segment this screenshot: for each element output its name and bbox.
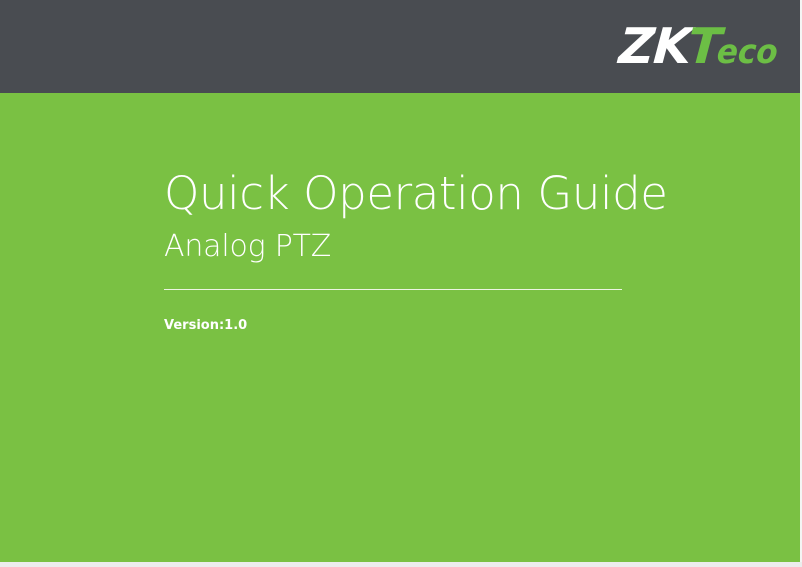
header-band: ZK T eco [0,0,802,93]
title-divider [164,289,622,290]
version-label: Version:1.0 [164,318,624,334]
document-cover-page: ZK T eco Quick Operation Guide Analog PT… [0,0,802,567]
page-title: Quick Operation Guide [164,166,624,222]
logo-text-zk: ZK [618,22,693,71]
logo-text-eco: eco [716,35,779,68]
page-bottom-edge [0,562,802,567]
cover-text-block: Quick Operation Guide Analog PTZ Version… [164,166,624,334]
zkteco-logo: ZK T eco [619,20,778,72]
page-subtitle: Analog PTZ [164,226,624,268]
